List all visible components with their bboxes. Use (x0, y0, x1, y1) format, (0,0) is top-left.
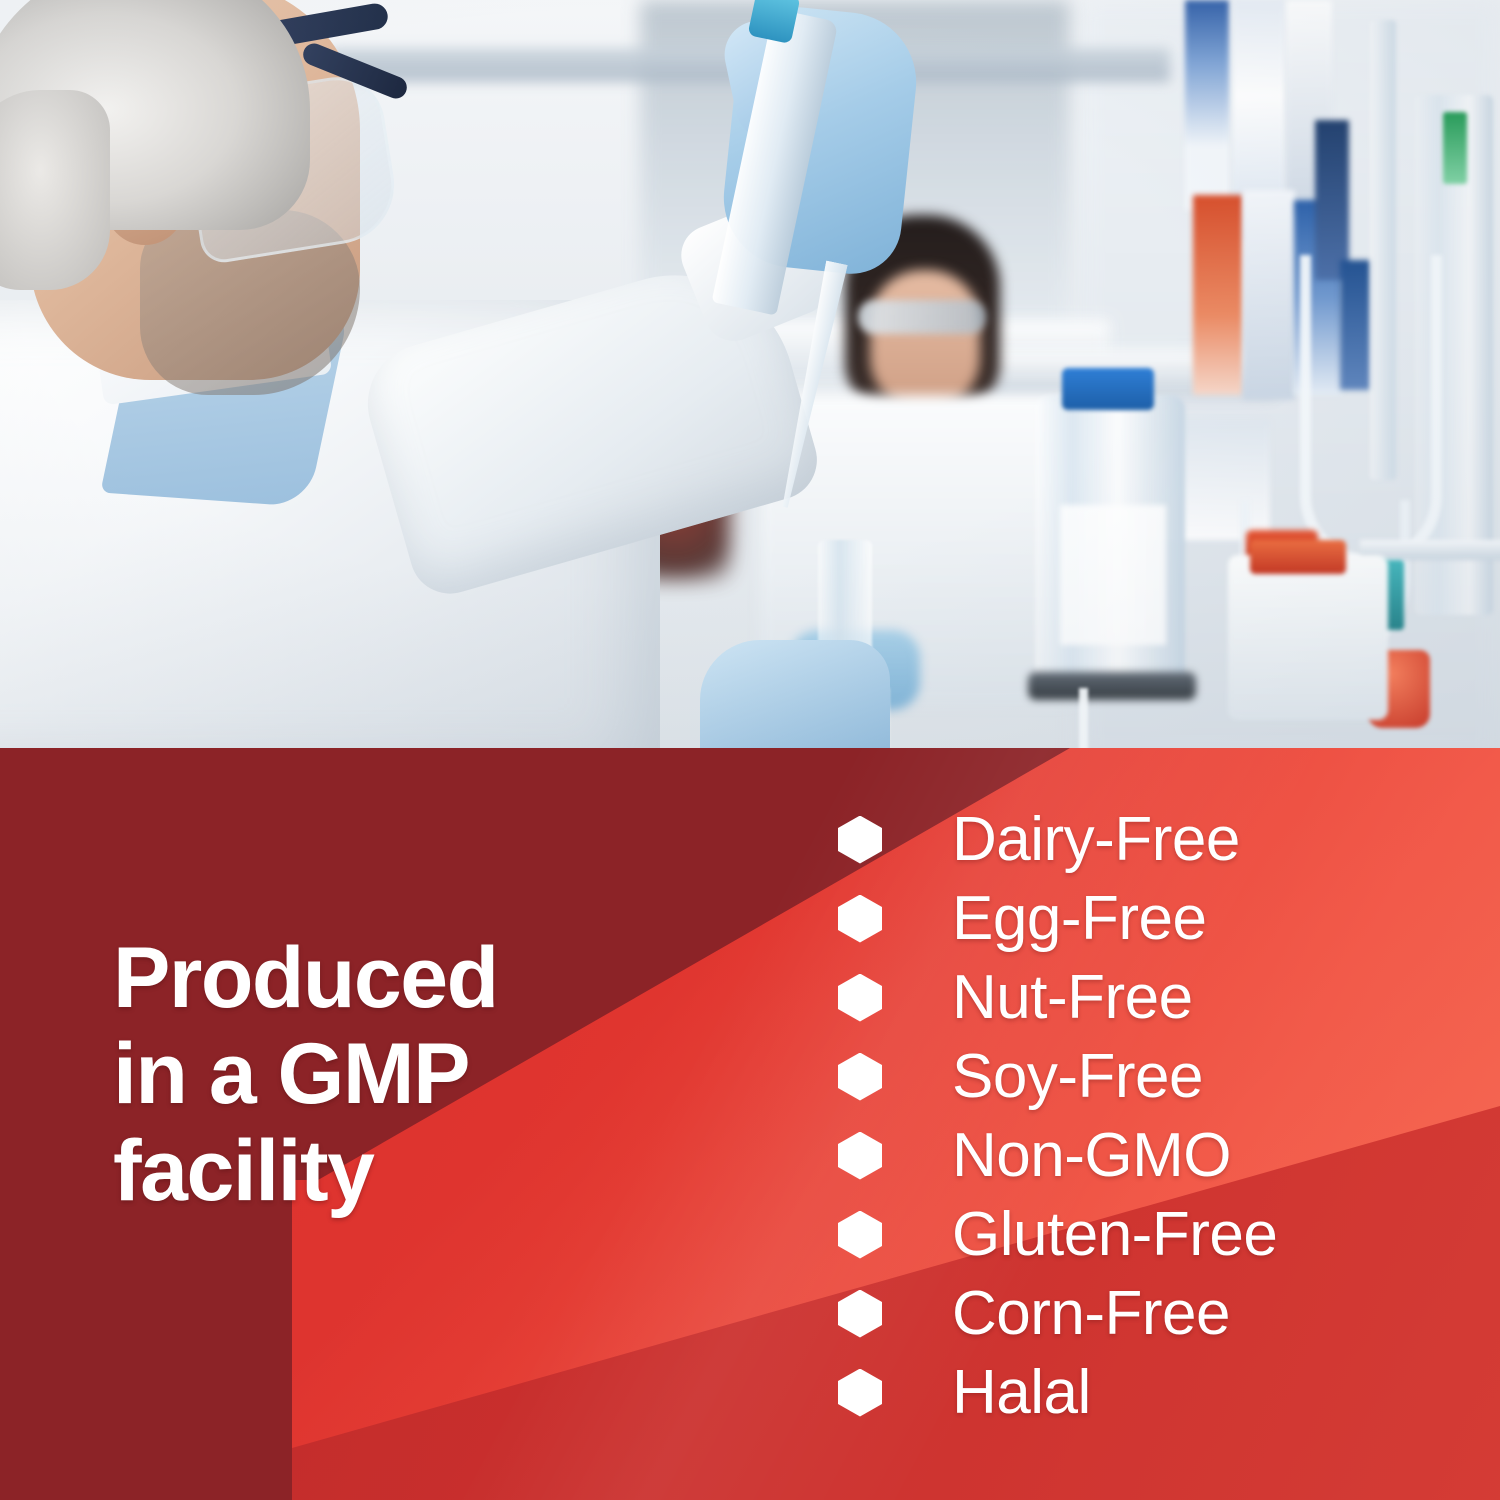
hexagon-icon (838, 1369, 882, 1417)
hexagon-icon (838, 1211, 882, 1259)
feature-label: Egg-Free (952, 888, 1206, 950)
hexagon-icon (838, 1290, 882, 1338)
list-item: Non-GMO (838, 1116, 1478, 1195)
list-item: Egg-Free (838, 879, 1478, 958)
hexagon-icon (838, 974, 882, 1022)
list-item: Nut-Free (838, 958, 1478, 1037)
hexagon-icon (838, 1053, 882, 1101)
list-item: Dairy-Free (838, 800, 1478, 879)
hexagon-icon (838, 1132, 882, 1180)
feature-label: Halal (952, 1362, 1091, 1424)
feature-label: Nut-Free (952, 967, 1193, 1029)
feature-label: Gluten-Free (952, 1204, 1277, 1266)
lab-photo (0, 0, 1500, 748)
list-item: Gluten-Free (838, 1195, 1478, 1274)
page-headline: Produced in a GMP facility (113, 930, 733, 1219)
hexagon-icon (838, 895, 882, 943)
list-item: Corn-Free (838, 1274, 1478, 1353)
feature-label: Non-GMO (952, 1125, 1231, 1187)
hexagon-icon (838, 816, 882, 864)
feature-list: Dairy-Free Egg-Free Nut-Free Soy-Free No… (838, 800, 1478, 1432)
photo-vignette (0, 0, 1500, 748)
list-item: Soy-Free (838, 1037, 1478, 1116)
list-item: Halal (838, 1353, 1478, 1432)
feature-label: Dairy-Free (952, 809, 1240, 871)
infographic-canvas: Produced in a GMP facility Dairy-Free Eg… (0, 0, 1500, 1500)
feature-label: Soy-Free (952, 1046, 1203, 1108)
feature-label: Corn-Free (952, 1283, 1230, 1345)
